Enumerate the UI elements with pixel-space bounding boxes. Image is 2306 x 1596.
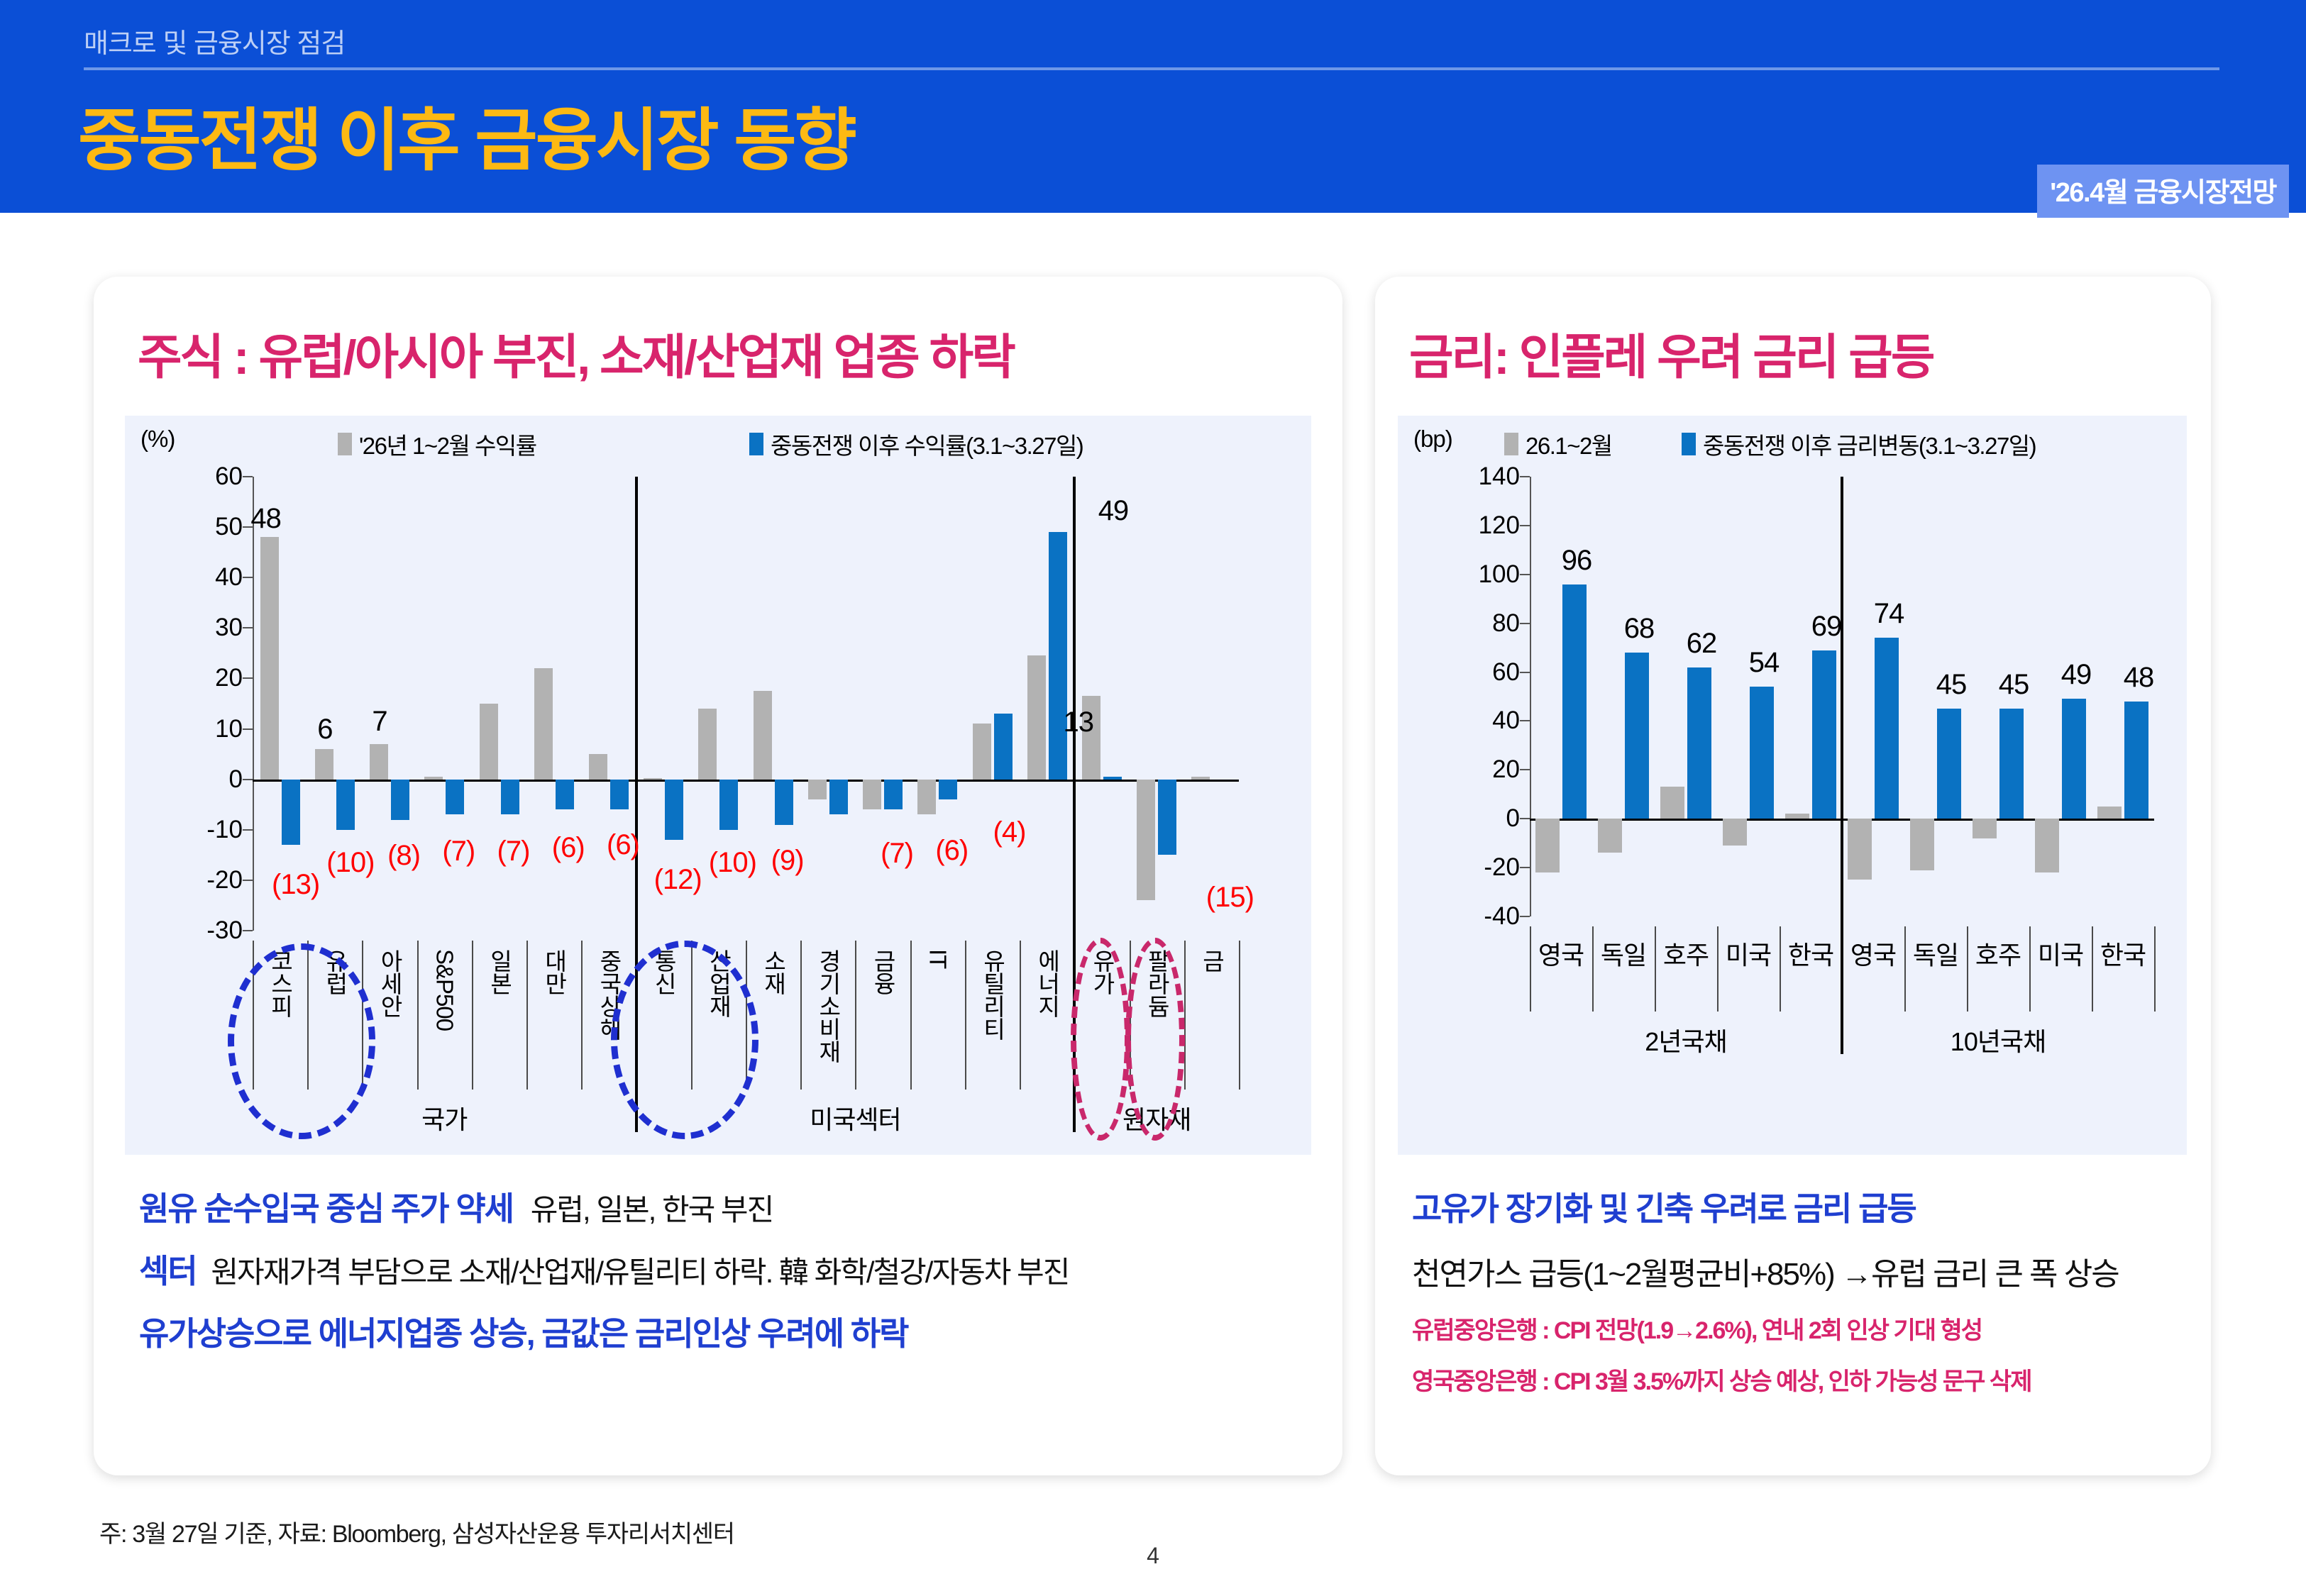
bar-series-war — [775, 780, 793, 825]
bar-series-prior — [1723, 819, 1747, 846]
rates-bullet-1-strong: 고유가 장기화 및 긴축 우려로 금리 급등 — [1412, 1190, 1916, 1227]
header-kicker: 매크로 및 금융시장 점검 — [84, 21, 345, 60]
category-separator — [965, 941, 966, 1090]
x-axis-category-label: 영국 — [1538, 935, 1584, 972]
y-axis-tick-mark — [1520, 720, 1530, 721]
bar-data-label: 96 — [1562, 545, 1592, 577]
bar-series-war — [1562, 584, 1587, 819]
rates-y-unit: (bp) — [1413, 426, 1452, 453]
legend-swatch-icon — [1682, 433, 1696, 455]
x-axis-category-label: 영국 — [1850, 935, 1896, 972]
bar-series-prior — [808, 780, 827, 799]
bar-series-prior — [973, 724, 991, 779]
bar-data-label: 74 — [1874, 598, 1904, 630]
x-axis-category-label: 독일 — [1913, 935, 1958, 972]
y-axis-tick-mark — [1520, 818, 1530, 819]
highlight-ellipse-annotation — [228, 943, 375, 1139]
bar-series-war — [282, 780, 300, 845]
bar-series-prior — [1535, 819, 1560, 872]
equity-legend-label-1: '26년 1~2월 수익률 — [359, 427, 536, 461]
x-axis-category-label: 한국 — [2100, 935, 2146, 972]
y-axis-line — [1530, 477, 1531, 916]
category-separator — [1592, 926, 1594, 1012]
bar-series-prior — [1973, 819, 1997, 838]
equity-panel: 주식 : 유럽/아시아 부진, 소재/산업재 업종 하락 (%) '26년 1~… — [94, 277, 1342, 1475]
group-separator — [1841, 477, 1843, 1054]
bar-series-prior — [917, 780, 936, 815]
category-separator — [691, 941, 693, 1090]
header-divider — [84, 67, 2219, 70]
bar-series-prior — [2035, 819, 2059, 872]
x-axis-category-label: 팔라듐 — [1140, 949, 1174, 1017]
status-badge: '26.4월 금융시장전망 — [2037, 165, 2289, 218]
bar-series-war — [719, 780, 738, 830]
category-separator — [2154, 926, 2156, 1012]
equity-plot-area: 6050403020100-10-20-30코스피유럽아세안S&P500일본대만… — [253, 477, 1239, 931]
category-separator — [1184, 941, 1186, 1090]
bar-series-war — [1103, 777, 1122, 780]
rates-bullet-2-normal: 천연가스 급등(1~2월평균비+85%) →유럽 금리 큰 폭 상승 — [1412, 1257, 2119, 1292]
y-axis-tick-mark — [1520, 476, 1530, 477]
x-axis-group-label: 10년국채 — [1951, 1021, 2046, 1058]
category-separator — [1967, 926, 1968, 1012]
x-axis-category-label: 산업재 — [701, 949, 735, 1017]
bar-series-prior — [589, 754, 607, 780]
bar-series-war — [556, 780, 574, 810]
legend-swatch-icon — [1504, 433, 1518, 455]
rates-chart: (bp) 26.1~2월 중동전쟁 이후 금리변동(3.1~3.27일) 140… — [1398, 416, 2187, 1155]
bar-data-label: (15) — [1206, 882, 1254, 914]
bar-data-label: 45 — [1999, 669, 2029, 701]
category-separator — [1020, 941, 1021, 1090]
x-axis-category-label: 코스피 — [263, 949, 297, 1017]
bar-series-prior — [2097, 807, 2122, 819]
source-footnote: 주: 3월 27일 기준, 자료: Bloomberg, 삼성자산운용 투자리서… — [99, 1514, 734, 1549]
x-axis-category-label: 아세안 — [373, 949, 407, 1017]
bar-data-label: (7) — [881, 838, 913, 870]
bar-series-prior — [698, 709, 717, 780]
rates-bullet-1: 고유가 장기화 및 긴축 우려로 금리 급등 — [1412, 1183, 1916, 1230]
x-axis-category-label: 미국 — [1726, 935, 1771, 972]
bar-series-prior — [1191, 777, 1210, 780]
category-separator — [2092, 926, 2093, 1012]
equity-bullet-1-strong: 원유 순수입국 중심 주가 약세 — [139, 1190, 513, 1227]
rates-note-2: 영국중앙은행 : CPI 3월 3.5%까지 상승 예상, 인하 가능성 문구 … — [1412, 1362, 2031, 1397]
bar-data-label: (13) — [272, 869, 319, 901]
y-axis-line — [253, 477, 254, 931]
x-axis-category-label: S&P500 — [431, 949, 458, 1031]
category-separator — [1130, 941, 1131, 1090]
y-axis-tick-mark — [243, 627, 253, 628]
bar-series-war — [2062, 699, 2086, 819]
bar-series-war — [1158, 780, 1176, 855]
equity-bullet-2-normal: 원자재가격 부담으로 소재/산업재/유틸리티 하락. 韓 화학/철강/자동차 부… — [211, 1256, 1069, 1289]
category-separator — [472, 941, 473, 1090]
bar-series-prior — [370, 744, 388, 780]
y-axis-tick-mark — [243, 829, 253, 831]
category-separator — [2029, 926, 2031, 1012]
bar-data-label: (6) — [607, 829, 639, 861]
y-axis-tick-mark — [243, 476, 253, 477]
equity-bullet-2-strong: 섹터 — [139, 1253, 197, 1290]
rates-panel-title: 금리: 인플레 우려 금리 급등 — [1409, 318, 1933, 388]
equity-panel-title: 주식 : 유럽/아시아 부진, 소재/산업재 업종 하락 — [138, 318, 1014, 388]
bar-series-prior — [1910, 819, 1934, 870]
bar-series-war — [1812, 650, 1836, 819]
x-axis-category-label: 에너지 — [1030, 949, 1064, 1017]
category-separator — [1239, 941, 1240, 1090]
bar-series-war — [391, 780, 409, 820]
rates-plot-area: 140120100806040200-20-40영국독일호주미국한국영국독일호주… — [1530, 477, 2154, 916]
x-axis-category-label: 한국 — [1788, 935, 1833, 972]
bar-data-label: 48 — [2124, 662, 2154, 694]
bar-series-prior — [1137, 780, 1155, 901]
bar-series-prior — [754, 691, 772, 779]
category-separator — [1780, 926, 1781, 1012]
rates-note-1: 유럽중앙은행 : CPI 전망(1.9→2.6%), 연내 2회 인상 기대 형… — [1412, 1311, 1982, 1346]
y-axis-tick-mark — [243, 728, 253, 730]
bar-data-label: 6 — [317, 714, 332, 746]
group-separator — [1073, 477, 1076, 1132]
rates-legend-series-1: 26.1~2월 — [1504, 427, 1612, 461]
bar-data-label: 13 — [1063, 706, 1093, 738]
bar-data-label: (10) — [709, 847, 756, 879]
rates-note-2-text: 영국중앙은행 : CPI 3월 3.5%까지 상승 예상, 인하 가능성 문구 … — [1412, 1368, 2031, 1395]
bar-series-war — [994, 714, 1013, 779]
bar-series-prior — [534, 668, 553, 779]
bar-series-prior — [315, 749, 333, 780]
bar-series-war — [446, 780, 464, 815]
category-separator — [1530, 926, 1531, 1012]
legend-swatch-icon — [749, 433, 763, 455]
y-axis-tick-mark — [243, 880, 253, 881]
rates-legend-label-1: 26.1~2월 — [1526, 427, 1612, 461]
bar-series-prior — [1785, 814, 1809, 819]
y-axis-tick-mark — [243, 930, 253, 931]
bar-series-war — [1049, 532, 1067, 779]
bar-data-label: (9) — [771, 845, 804, 877]
bar-series-war — [1625, 653, 1649, 819]
equity-legend-series-1: '26년 1~2월 수익률 — [338, 427, 536, 461]
equity-bullet-1-normal: 유럽, 일본, 한국 부진 — [531, 1193, 773, 1226]
x-axis-category-label: 독일 — [1601, 935, 1646, 972]
category-separator — [855, 941, 856, 1090]
highlight-ellipse-annotation — [611, 941, 758, 1139]
bar-data-label: (6) — [935, 835, 968, 867]
bar-series-war — [2124, 702, 2148, 819]
x-axis-category-label: 중국상해 — [592, 949, 626, 1040]
bar-series-prior — [863, 780, 881, 810]
x-axis-category-label: 유가 — [1085, 949, 1119, 994]
x-axis-category-label: 통신 — [646, 949, 680, 994]
y-axis-tick-mark — [1520, 867, 1530, 868]
bar-series-prior — [644, 778, 662, 780]
bar-data-label: (10) — [326, 847, 374, 879]
bar-series-prior — [260, 537, 279, 779]
x-axis-category-label: 대만 — [537, 949, 571, 994]
category-separator — [1655, 926, 1656, 1012]
rates-note-1-text: 유럽중앙은행 : CPI 전망(1.9→2.6%), 연내 2회 인상 기대 형… — [1412, 1317, 1982, 1344]
bar-data-label: (12) — [654, 864, 702, 896]
rates-bullet-2: 천연가스 급등(1~2월평균비+85%) →유럽 금리 큰 폭 상승 — [1412, 1248, 2119, 1294]
bar-data-label: 49 — [2061, 659, 2092, 691]
group-separator — [635, 477, 638, 1132]
category-separator — [526, 941, 528, 1090]
x-axis-category-label: 경기소비재 — [811, 949, 845, 1063]
bar-series-war — [1999, 709, 2024, 819]
bar-data-label: (7) — [497, 836, 530, 868]
bar-series-war — [336, 780, 355, 830]
category-separator — [910, 941, 912, 1090]
rates-legend-label-2: 중동전쟁 이후 금리변동(3.1~3.27일) — [1703, 427, 2036, 461]
x-axis-category-label: 호주 — [1975, 935, 2021, 972]
y-axis-tick-mark — [1520, 672, 1530, 673]
bar-data-label: 69 — [1811, 611, 1842, 643]
bar-series-prior — [1598, 819, 1622, 853]
category-separator — [581, 941, 583, 1090]
rates-panel: 금리: 인플레 우려 금리 급등 (bp) 26.1~2월 중동전쟁 이후 금리… — [1375, 277, 2211, 1475]
bar-data-label: 45 — [1936, 669, 1967, 701]
x-axis-category-label: 유럽 — [318, 949, 352, 994]
bar-series-war — [939, 780, 957, 799]
x-axis-group-label: 2년국채 — [1645, 1021, 1726, 1058]
category-separator — [1904, 926, 1906, 1012]
category-separator — [746, 941, 747, 1090]
bar-data-label: 54 — [1749, 647, 1780, 679]
bar-series-war — [1937, 709, 1961, 819]
bar-series-war — [884, 780, 903, 810]
page-title: 중동전쟁 이후 금융시장 동향 — [78, 85, 855, 184]
bar-data-label: (8) — [387, 840, 420, 872]
category-separator — [800, 941, 802, 1090]
equity-bullet-1: 원유 순수입국 중심 주가 약세 유럽, 일본, 한국 부진 — [139, 1183, 773, 1230]
slide-header: 매크로 및 금융시장 점검 중동전쟁 이후 금융시장 동향 — [0, 0, 2306, 213]
x-axis-category-label: IT — [924, 949, 951, 968]
bar-data-label: 68 — [1624, 613, 1655, 645]
y-axis-tick-mark — [243, 779, 253, 780]
bar-data-label: (4) — [993, 816, 1026, 848]
category-separator — [253, 941, 254, 1090]
y-axis-tick-mark — [1520, 769, 1530, 770]
y-axis-tick-mark — [1520, 916, 1530, 917]
category-separator — [1717, 926, 1719, 1012]
x-axis-category-label: 미국 — [2038, 935, 2083, 972]
x-axis-category-label: 금 — [1194, 949, 1228, 972]
x-axis-group-label: 원자재 — [1122, 1099, 1191, 1136]
x-axis-category-label: 금융 — [866, 949, 900, 994]
y-axis-tick-mark — [1520, 525, 1530, 526]
bar-series-war — [501, 780, 519, 815]
bar-series-war — [829, 780, 848, 815]
bar-series-war — [1750, 687, 1774, 819]
category-separator — [417, 941, 419, 1090]
equity-bullet-3-strong: 유가상승으로 에너지업종 상승, 금값은 금리인상 우려에 하락 — [139, 1315, 907, 1352]
rates-legend-series-2: 중동전쟁 이후 금리변동(3.1~3.27일) — [1682, 427, 2036, 461]
category-separator — [307, 941, 309, 1090]
equity-chart: (%) '26년 1~2월 수익률 중동전쟁 이후 수익률(3.1~3.27일)… — [125, 416, 1311, 1155]
equity-legend-series-2: 중동전쟁 이후 수익률(3.1~3.27일) — [749, 427, 1083, 461]
bar-series-prior — [1027, 655, 1046, 779]
page-number: 4 — [1147, 1543, 1159, 1569]
bar-data-label: 49 — [1098, 495, 1129, 527]
equity-bullet-2: 섹터 원자재가격 부담으로 소재/산업재/유틸리티 하락. 韓 화학/철강/자동… — [139, 1246, 1069, 1292]
y-axis-tick-mark — [1520, 574, 1530, 575]
x-axis-group-label: 미국섹터 — [810, 1099, 900, 1136]
x-axis-group-label: 국가 — [421, 1099, 467, 1136]
bar-series-prior — [480, 704, 498, 780]
equity-bullet-3: 유가상승으로 에너지업종 상승, 금값은 금리인상 우려에 하락 — [139, 1308, 907, 1355]
bar-series-prior — [1848, 819, 1872, 880]
y-axis-tick-mark — [243, 677, 253, 679]
x-axis-category-label: 유틸리티 — [976, 949, 1010, 1040]
x-axis-category-label: 호주 — [1663, 935, 1709, 972]
bar-data-label: 7 — [372, 706, 387, 738]
x-axis-category-label: 소재 — [756, 949, 790, 994]
bar-data-label: (7) — [442, 836, 475, 868]
bar-series-war — [1687, 667, 1711, 819]
bar-series-war — [1875, 638, 1899, 819]
bar-series-prior — [1660, 787, 1684, 819]
equity-legend-label-2: 중동전쟁 이후 수익률(3.1~3.27일) — [771, 427, 1083, 461]
y-axis-tick-mark — [1520, 623, 1530, 624]
bar-data-label: 62 — [1687, 628, 1717, 660]
bar-data-label: 48 — [250, 503, 281, 535]
x-axis-category-label: 일본 — [482, 949, 517, 994]
bar-series-prior — [424, 777, 443, 780]
bar-series-war — [610, 780, 629, 810]
bar-data-label: (6) — [552, 832, 585, 864]
category-separator — [362, 941, 363, 1090]
y-axis-tick-mark — [243, 577, 253, 578]
bar-series-war — [665, 780, 683, 840]
equity-y-unit: (%) — [140, 426, 175, 453]
legend-swatch-icon — [338, 433, 352, 455]
